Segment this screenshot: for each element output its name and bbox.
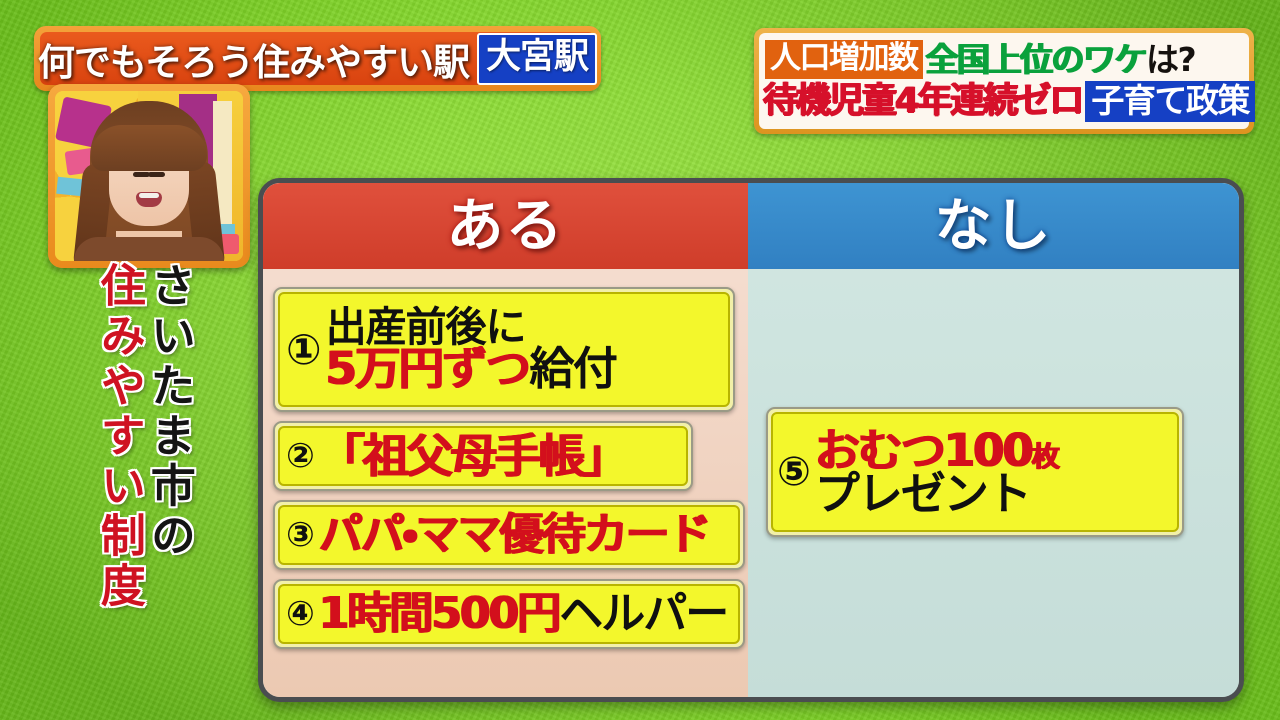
side-caption-column-right: さいたま市の xyxy=(146,262,192,612)
top-right-line-1: 人口増加数 全国上位のワケ は? xyxy=(763,40,1245,79)
column-header-aru-label: ある xyxy=(447,198,565,255)
list-item-4-price: 1時間500円 xyxy=(319,588,559,639)
question-suffix-text: は? xyxy=(1146,43,1195,76)
top-right-line-2: 待機児童4年連続ゼロ 子育て政策 xyxy=(763,81,1245,122)
list-item-5-inner: ⑤ おむつ100枚 プレゼント xyxy=(771,412,1179,532)
waiting-children-text: 待機児童4年連続ゼロ xyxy=(763,84,1082,119)
list-item-4-text: 1時間500円ヘルパー xyxy=(319,592,727,637)
list-item-3-number: ③ xyxy=(286,518,315,552)
list-item-1-inner: ① 出産前後に 5万円ずつ給付 xyxy=(278,292,730,407)
list-item-4-inner: ④ 1時間500円ヘルパー xyxy=(278,584,740,644)
list-item-2-text: 「祖父母手帳」 xyxy=(319,433,627,480)
list-item-1-number: ① xyxy=(286,329,322,371)
list-item-5-number: ⑤ xyxy=(777,452,811,492)
column-header-aru: ある xyxy=(263,183,748,269)
list-item-1: ① 出産前後に 5万円ずつ給付 xyxy=(273,287,735,412)
list-item-4: ④ 1時間500円ヘルパー xyxy=(273,579,745,649)
childcare-policy-chip: 子育て政策 xyxy=(1085,81,1255,122)
list-item-2-inner: ② 「祖父母手帳」 xyxy=(278,426,688,486)
list-item-1-amount: 5万円ずつ xyxy=(326,342,530,395)
presenter-fringe xyxy=(91,125,207,171)
column-aru: ある ① 出産前後に 5万円ずつ給付 ② 「祖父母手帳」 ③ パパ・ママ優待カー… xyxy=(263,183,748,697)
national-rank-text: 全国上位のワケ xyxy=(926,43,1147,76)
list-item-1-text: 出産前後に 5万円ずつ給付 xyxy=(326,307,617,393)
presenter-mouth xyxy=(136,192,162,207)
list-item-5: ⑤ おむつ100枚 プレゼント xyxy=(766,407,1184,537)
presenter-eye-right xyxy=(148,172,165,177)
presenter-body xyxy=(74,237,224,261)
column-nashi: なし ⑤ おむつ100枚 プレゼント xyxy=(748,183,1239,697)
side-caption-column-left: 住みやすい制度 xyxy=(96,262,142,612)
list-item-4-suffix: ヘルパー xyxy=(559,588,727,639)
station-chip-label: 大宮駅 xyxy=(486,35,588,83)
list-item-5-line2: プレゼント xyxy=(815,471,1058,517)
list-item-5-text: おむつ100枚 プレゼント xyxy=(815,428,1058,517)
column-header-nashi: なし xyxy=(748,183,1239,269)
title-main-text: 何でもそろう住みやすい駅 xyxy=(38,32,469,86)
list-item-3: ③ パパ・ママ優待カード xyxy=(273,500,745,570)
list-item-5-unit: 枚 xyxy=(1032,440,1058,473)
list-item-2-number: ② xyxy=(286,439,315,473)
list-item-1-line2: 5万円ずつ給付 xyxy=(326,346,617,392)
station-chip: 大宮駅 xyxy=(477,33,597,85)
top-right-banner-inner: 人口増加数 全国上位のワケ は? 待機児童4年連続ゼロ 子育て政策 xyxy=(759,33,1249,129)
population-growth-chip: 人口増加数 xyxy=(765,40,923,79)
presenter-thumbnail-frame xyxy=(48,84,250,268)
list-item-4-number: ④ xyxy=(286,597,315,631)
list-item-1-suffix: 給付 xyxy=(529,342,616,395)
comparison-panel: ある ① 出産前後に 5万円ずつ給付 ② 「祖父母手帳」 ③ パパ・ママ優待カー… xyxy=(258,178,1244,702)
list-item-2: ② 「祖父母手帳」 xyxy=(273,421,693,491)
side-caption: さいたま市の 住みやすい制度 xyxy=(96,262,192,612)
top-right-banner: 人口増加数 全国上位のワケ は? 待機児童4年連続ゼロ 子育て政策 xyxy=(754,28,1254,134)
title-banner-inner: 何でもそろう住みやすい駅 大宮駅 xyxy=(40,32,595,85)
column-header-nashi-label: なし xyxy=(935,198,1053,255)
presenter-thumbnail xyxy=(55,91,243,261)
list-item-3-text: パパ・ママ優待カード xyxy=(319,513,710,558)
list-item-3-inner: ③ パパ・ママ優待カード xyxy=(278,505,740,565)
top-left-title-banner: 何でもそろう住みやすい駅 大宮駅 xyxy=(34,26,601,91)
